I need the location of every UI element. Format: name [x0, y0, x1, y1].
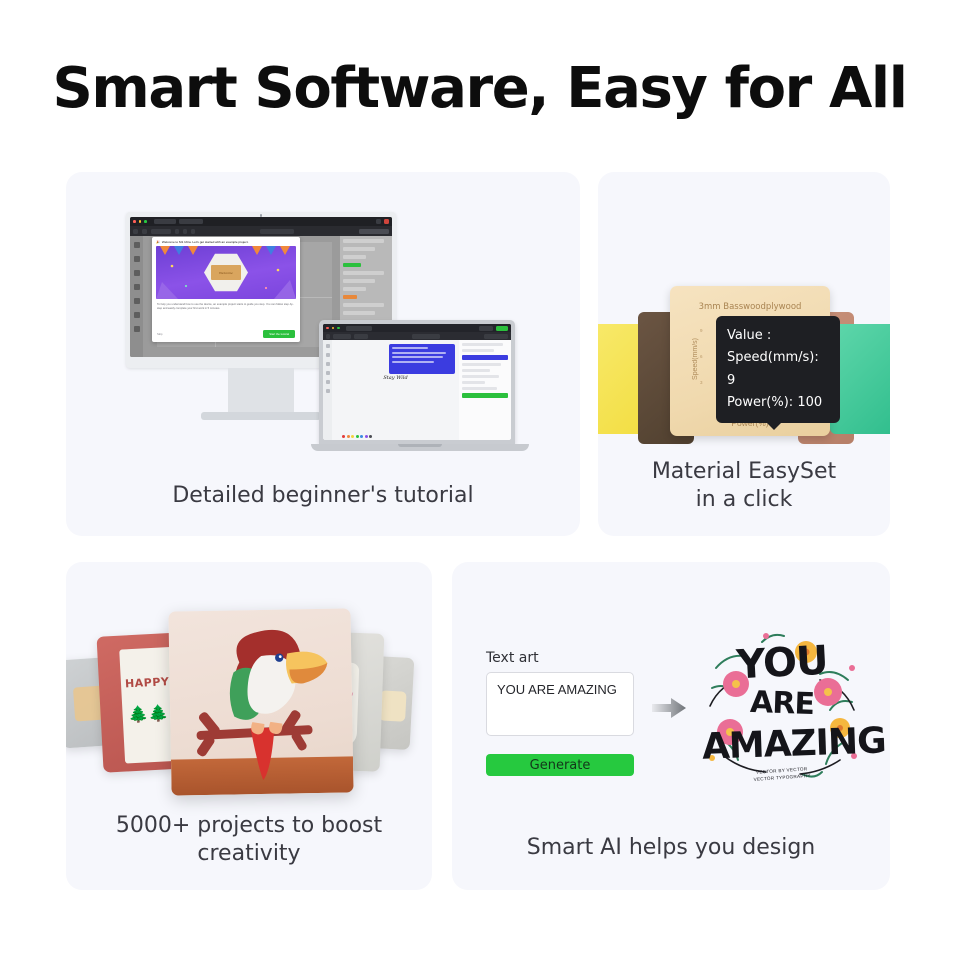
panel-row — [343, 303, 384, 307]
tip-line — [392, 352, 446, 354]
tool-rail[interactable] — [130, 236, 143, 357]
swatch-dark[interactable] — [369, 435, 372, 438]
pen-tool-icon[interactable] — [134, 284, 140, 290]
artwork-line-2: ARE — [701, 683, 862, 724]
frame-tool-icon[interactable] — [134, 312, 140, 318]
panel-set-material-button[interactable] — [462, 355, 508, 360]
laptop-lid: Stay Wild — [319, 320, 515, 444]
window-minimize-icon[interactable] — [332, 327, 335, 330]
welcome-body-text: To help you understand how to use the de… — [152, 299, 300, 311]
laptop-app-toolbar[interactable] — [323, 332, 511, 340]
toolbar-file-icon[interactable] — [326, 334, 330, 339]
generate-button[interactable]: Generate — [486, 754, 634, 776]
material-name-label: 3mm Basswoodplywood — [670, 302, 830, 312]
toolbar-device-selector[interactable] — [151, 229, 171, 234]
titlebar-record-icon[interactable] — [384, 219, 389, 224]
laptop-app-body: Stay Wild — [323, 340, 511, 440]
tip-title — [392, 347, 428, 349]
app-toolbar[interactable] — [130, 226, 392, 236]
flower-dot — [763, 633, 769, 639]
toolbar-status — [484, 334, 508, 339]
page-title: Smart Software, Easy for All — [0, 56, 959, 121]
material-settings-tip[interactable] — [389, 344, 455, 374]
toolbar-project-name[interactable] — [412, 334, 440, 339]
panel-row — [343, 271, 384, 275]
project-photo-fan: HAPPY 🌲🌲 Bloom & Grow — [66, 580, 432, 810]
swatch-blue[interactable] — [360, 435, 363, 438]
laptop-design-canvas[interactable]: Stay Wild — [332, 340, 459, 440]
tip-line — [392, 356, 443, 358]
artwork-line-1: YOU — [701, 636, 863, 690]
swatch-purple[interactable] — [365, 435, 368, 438]
welcome-skip-button[interactable]: Skip — [157, 332, 162, 336]
toolbar-save-icon[interactable] — [142, 229, 147, 234]
panel-row — [462, 363, 501, 366]
card-smart-ai[interactable]: Text art YOU ARE AMAZING Generate — [452, 562, 890, 890]
swatch-green[interactable] — [356, 435, 359, 438]
toolbar-project-name[interactable] — [260, 229, 294, 234]
project-photo-toucan-layered-art[interactable] — [168, 608, 353, 795]
titlebar-tab[interactable] — [179, 219, 203, 224]
photo-label-happy: HAPPY — [125, 675, 170, 690]
text-art-field-label: Text art — [486, 650, 539, 666]
text-art-input[interactable]: YOU ARE AMAZING — [486, 672, 634, 736]
window-minimize-icon[interactable] — [139, 220, 142, 223]
window-maximize-icon[interactable] — [144, 220, 147, 223]
laptop-app-titlebar — [323, 324, 511, 332]
toolbar-connect-status[interactable] — [359, 229, 389, 234]
panel-row — [462, 381, 485, 384]
titlebar-settings-icon[interactable] — [376, 219, 381, 224]
grid-tool-icon[interactable] — [134, 326, 140, 332]
welcome-heading-row: 🎉 Welcome to M1 Ultra. Let's get started… — [152, 237, 300, 246]
text-tool-icon[interactable] — [326, 353, 330, 357]
laptop-titlebar-tab[interactable] — [346, 326, 372, 331]
caption-material-easyset: Material EasySet in a click — [598, 458, 890, 514]
panel-status-ok — [343, 263, 361, 267]
caption-projects-library: 5000+ projects to boost creativity — [66, 812, 432, 868]
shape-tool-icon[interactable] — [326, 362, 330, 366]
tail-shape — [250, 728, 275, 780]
shape-tool-icon[interactable] — [134, 270, 140, 276]
select-tool-icon[interactable] — [326, 344, 330, 348]
panel-row — [343, 287, 366, 291]
toolbar-zoom-icon[interactable] — [191, 229, 195, 234]
party-icon: 🎉 — [156, 240, 160, 244]
color-swatch-strip[interactable] — [342, 435, 372, 438]
panel-row — [343, 247, 375, 251]
axis-label-speed: Speed(mm/s) — [692, 338, 699, 380]
arrow-right-icon — [652, 697, 686, 719]
generated-text-artwork[interactable]: YOU ARE AMAZING VECTOR BY VECTOR VECTOR … — [702, 628, 862, 788]
canvas-artwork-text: Stay Wild — [383, 375, 407, 381]
tooltip-power: Power(%): 100 — [727, 392, 829, 414]
app-titlebar — [130, 217, 392, 226]
caption-line-2: creativity — [66, 840, 432, 868]
laptop-account-chip[interactable] — [479, 326, 493, 331]
card-detailed-tutorial[interactable]: 🎉 Welcome to M1 Ultra. Let's get started… — [66, 172, 580, 536]
toolbar-redo-icon[interactable] — [183, 229, 187, 234]
laptop-base — [311, 444, 529, 451]
pen-tool-icon[interactable] — [326, 371, 330, 375]
panel-row — [343, 239, 384, 243]
frame-tool-icon[interactable] — [326, 389, 330, 393]
panel-row — [462, 387, 497, 390]
tooltip-speed: Speed(mm/s): 9 — [727, 347, 829, 392]
swatch-red[interactable] — [342, 435, 345, 438]
caption-detailed-tutorial: Detailed beginner's tutorial — [66, 482, 580, 510]
laptop-mockup: Stay Wild — [311, 320, 529, 451]
material-stage: 3mm Basswoodplywood Speed(mm/s) 9 6 3 ✕ … — [598, 272, 890, 472]
value-tooltip: Value : Speed(mm/s): 9 Power(%): 100 — [716, 316, 840, 423]
panel-row — [343, 255, 366, 259]
laptop-properties-panel[interactable] — [459, 340, 511, 440]
window-maximize-icon[interactable] — [337, 327, 340, 330]
panel-row — [343, 311, 375, 315]
toolbar-device-selector[interactable] — [333, 334, 351, 339]
panel-start-button[interactable] — [462, 393, 508, 398]
artwork-line-3: AMAZING — [701, 721, 862, 768]
select-tool-icon[interactable] — [134, 242, 140, 248]
photo-subject — [379, 690, 407, 721]
image-tool-icon[interactable] — [326, 380, 330, 384]
toolbar-file-icon[interactable] — [133, 229, 138, 234]
card-projects-library[interactable]: HAPPY 🌲🌲 Bloom & Grow — [66, 562, 432, 890]
panel-row — [343, 279, 375, 283]
welcome-heading: Welcome to M1 Ultra. Let's get started w… — [162, 240, 249, 244]
laptop-connect-button[interactable] — [496, 326, 508, 331]
caption-line-1: Material EasySet — [598, 458, 890, 486]
toolbar-undo-icon[interactable] — [175, 229, 179, 234]
welcome-dialog[interactable]: 🎉 Welcome to M1 Ultra. Let's get started… — [152, 237, 300, 342]
panel-row — [462, 375, 499, 378]
toolbar-material-selector[interactable] — [354, 334, 368, 339]
panel-row — [462, 343, 503, 346]
monitor-stand-neck — [228, 368, 294, 416]
welcome-start-tutorial-button[interactable]: Start the tutorial — [263, 330, 295, 338]
titlebar-logo — [154, 219, 176, 224]
monitor-stand-foot — [201, 412, 321, 420]
laptop-screen: Stay Wild — [323, 324, 511, 440]
ytick-9: 9 — [700, 328, 703, 333]
tree-icon: 🌲🌲 — [128, 703, 169, 725]
tip-line — [392, 361, 434, 363]
tooltip-title: Value : — [727, 325, 829, 347]
caption-line-1: 5000+ projects to boost — [66, 812, 432, 840]
ytick-6: 6 — [700, 354, 703, 359]
window-close-icon[interactable] — [133, 220, 136, 223]
welcome-footer: Skip Start the tutorial — [152, 330, 300, 342]
image-tool-icon[interactable] — [134, 298, 140, 304]
ytick-3: 3 — [700, 380, 703, 385]
panel-status-warn — [343, 295, 357, 299]
card-material-easyset[interactable]: 3mm Basswoodplywood Speed(mm/s) 9 6 3 ✕ … — [598, 172, 890, 536]
laptop-tool-rail[interactable] — [323, 340, 332, 440]
caption-smart-ai: Smart AI helps you design — [452, 834, 890, 862]
swatch-orange[interactable] — [347, 435, 350, 438]
panel-row — [462, 369, 490, 372]
window-close-icon[interactable] — [326, 327, 329, 330]
text-tool-icon[interactable] — [134, 256, 140, 262]
welcome-hero-image: Welcome — [156, 246, 296, 299]
marketing-feature-page: Smart Software, Easy for All — [0, 0, 959, 959]
toucan-artwork — [168, 608, 353, 795]
caption-line-2: in a click — [598, 486, 890, 514]
swatch-yellow[interactable] — [351, 435, 354, 438]
panel-row — [462, 349, 494, 352]
welcome-hero-word: Welcome — [211, 265, 241, 280]
